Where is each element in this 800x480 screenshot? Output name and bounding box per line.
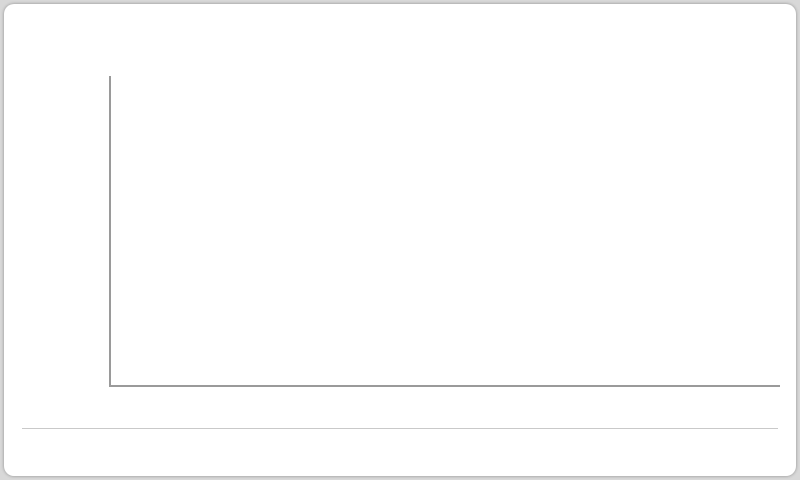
footer-divider xyxy=(22,428,778,429)
x-axis-line xyxy=(109,385,780,387)
chart-plot xyxy=(4,4,796,434)
chart-card xyxy=(4,4,796,476)
plot-area xyxy=(110,76,780,385)
covid-area-series xyxy=(110,76,780,385)
